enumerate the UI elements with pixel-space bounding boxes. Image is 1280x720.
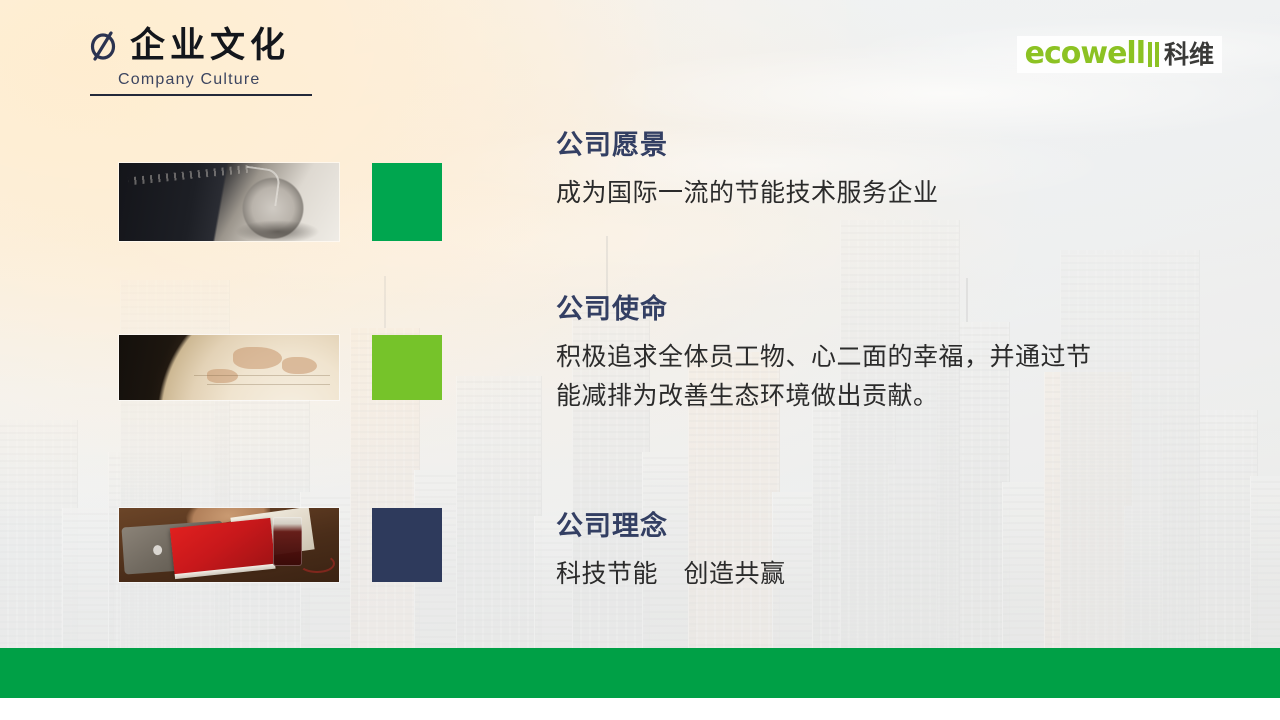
bottom-white-strip [0,698,1280,720]
section-line: 能减排为改善生态环境做出贡献。 [556,376,1092,416]
notebook-coil-detail [128,164,251,185]
bottom-green-bar [0,648,1280,698]
title-underline [90,94,312,96]
section-body: 成为国际一流的节能技术服务企业 [556,173,939,213]
page-title-block: 企业文化 Company Culture [88,28,388,96]
laptop-desk-photo [119,508,339,582]
section-line: 积极追求全体员工物、心二面的幸福，并通过节 [556,337,1092,377]
culture-content: 公司愿景 成为国际一流的节能技术服务企业 公司使命 积极追求全体员工物、心二面的… [556,0,1256,720]
section-line: 科技节能 创造共赢 [556,554,786,594]
section-title: 公司使命 [556,295,1092,325]
culture-row-3 [119,508,442,582]
culture-row-2 [119,335,442,400]
globe-map-photo [119,335,339,400]
culture-row-1 [119,163,442,241]
light-green-swatch [372,335,442,400]
section-vision: 公司愿景 成为国际一流的节能技术服务企业 [556,131,939,212]
red-notebook-detail [170,518,276,576]
page-title: 企业文化 [130,28,290,65]
section-body: 科技节能 创造共赢 [556,554,786,594]
null-circle-icon [88,30,118,62]
continent-shape [233,347,281,369]
section-title: 公司理念 [556,512,786,542]
notebook-and-coffee-photo [119,163,339,241]
page-subtitle: Company Culture [118,71,388,89]
section-mission: 公司使命 积极追求全体员工物、心二面的幸福，并通过节 能减排为改善生态环境做出贡… [556,295,1092,416]
cord-detail [299,554,334,573]
continent-shape [282,357,317,374]
spoon-detail [242,165,282,205]
section-line: 成为国际一流的节能技术服务企业 [556,173,939,213]
section-body: 积极追求全体员工物、心二面的幸福，并通过节 能减排为改善生态环境做出贡献。 [556,337,1092,416]
green-swatch [372,163,442,241]
slide-canvas: 企业文化 Company Culture ecowell 科维 [0,0,1280,720]
globe-gridline [194,375,330,376]
jar-detail [273,517,302,566]
section-philosophy: 公司理念 科技节能 创造共赢 [556,512,786,593]
globe-gridline [207,384,330,385]
navy-swatch [372,508,442,582]
section-title: 公司愿景 [556,131,939,161]
laptop-logo-icon [154,545,164,556]
